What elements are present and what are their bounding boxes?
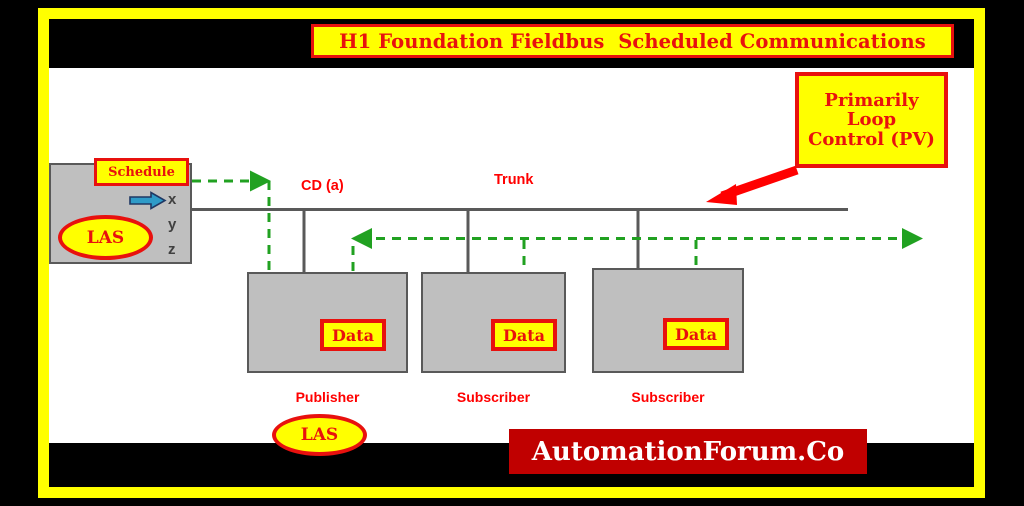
schedule-badge-label: Schedule	[108, 165, 175, 180]
schedule-pointer-arrow-icon	[129, 191, 167, 210]
watermark-banner: AutomationForum.Co	[509, 429, 867, 474]
callout-primarily-loop-control: Primarily Loop Control (PV)	[795, 72, 948, 168]
data-badge-publisher: Data	[320, 319, 386, 351]
publisher-las-badge: LAS	[272, 414, 367, 456]
data-badge-label: Data	[332, 326, 374, 345]
callout-line-1: Primarily	[824, 91, 918, 110]
schedule-entry-x: x	[168, 191, 176, 208]
watermark-text: AutomationForum.Co	[532, 437, 845, 467]
las-badge: LAS	[58, 215, 153, 260]
schedule-entry-y: y	[168, 216, 176, 233]
data-badge-label: Data	[675, 325, 717, 344]
callout-line-2: Loop	[847, 110, 896, 129]
diagram-canvas: H1 Foundation Fieldbus Scheduled Communi…	[0, 0, 1024, 506]
schedule-badge: Schedule	[94, 158, 189, 186]
data-badge-subscriber-1: Data	[491, 319, 557, 351]
data-badge-subscriber-2: Data	[663, 318, 729, 350]
device-label-subscriber-2: Subscriber	[592, 389, 744, 405]
callout-pointer-arrowhead	[706, 184, 737, 205]
publisher-las-badge-label: LAS	[301, 425, 338, 445]
device-label-publisher: Publisher	[247, 389, 408, 405]
label-cd: CD (a)	[301, 178, 344, 194]
schedule-entry-z: z	[168, 241, 176, 258]
label-trunk: Trunk	[494, 172, 533, 188]
callout-line-3: Control (PV)	[808, 130, 935, 149]
las-badge-label: LAS	[87, 228, 124, 248]
data-badge-label: Data	[503, 326, 545, 345]
device-label-subscriber-1: Subscriber	[421, 389, 566, 405]
